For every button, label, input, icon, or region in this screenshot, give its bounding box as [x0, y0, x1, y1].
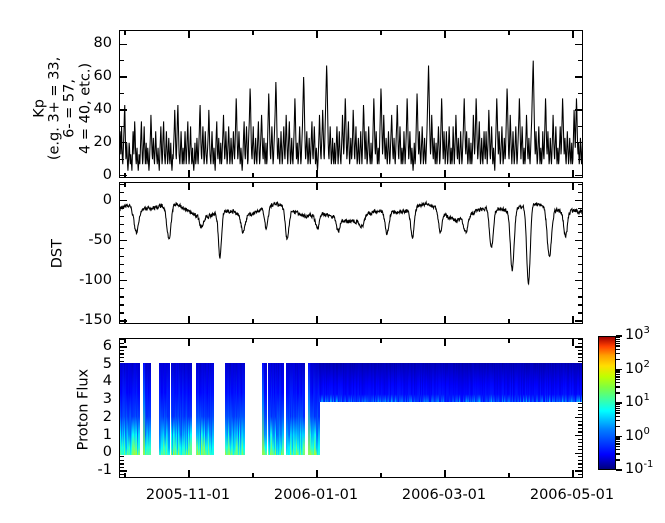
colorbar-minor-tick [616, 341, 620, 342]
colorbar-minor-tick [616, 412, 620, 413]
pf-y-minor-tick [120, 350, 124, 351]
panel-dst [119, 182, 583, 324]
colorbar-minor-tick [616, 337, 620, 338]
pf-y-minor-tick [578, 353, 582, 354]
dst-axis-title-line-1: DST [50, 224, 65, 284]
proton-flux-column [303, 363, 305, 454]
pf-x-minor-tick [252, 339, 253, 343]
kp-axis-title-line-3: 6- = 57, [63, 33, 78, 183]
kp-axis-title: Kp (e.g. 3+ = 33, 6- = 57, 4 = 40, etc.) [33, 33, 94, 183]
pf-y-minor-tick [578, 361, 582, 362]
pf-y-minor-tick [578, 357, 582, 358]
colorbar-minor-tick [616, 339, 620, 340]
panel-proton-flux [119, 338, 583, 478]
pf-x-minor-tick [508, 339, 509, 343]
dst-series [120, 183, 582, 323]
colorbar-minor-tick [616, 408, 620, 409]
colorbar-minor-tick [616, 372, 620, 373]
colorbar-tick-label: 100 [625, 427, 650, 443]
pf-y-major-tick [575, 435, 582, 436]
kp-axis-title-line-4: 4 = 40, etc.) [78, 33, 93, 183]
pf-y-minor-tick [120, 343, 124, 344]
colorbar-minor-tick [616, 359, 620, 360]
pf-y-minor-tick [120, 463, 124, 464]
pf-x-major-tick [188, 339, 189, 346]
colorbar-minor-tick [616, 449, 620, 450]
colorbar-minor-tick [616, 443, 620, 444]
pf-x-minor-tick [124, 473, 125, 477]
pf-y-minor-tick [578, 407, 582, 408]
x-axis-tick-label: 2006-03-01 [384, 488, 504, 503]
pf-y-major-tick [575, 453, 582, 454]
proton-flux-column [265, 363, 267, 454]
pf-y-minor-tick [120, 456, 124, 457]
pf-x-major-tick [444, 339, 445, 346]
colorbar-minor-tick [616, 404, 620, 405]
colorbar-tick-label: 103 [625, 326, 650, 342]
colorbar-minor-tick [616, 382, 620, 383]
pf-y-minor-tick [120, 361, 124, 362]
pf-y-minor-tick [578, 403, 582, 404]
colorbar-tick-label: 10-1 [625, 460, 653, 476]
proton-flux-streak [308, 363, 310, 454]
colorbar-minor-tick [616, 406, 620, 407]
dst-plot-area [120, 183, 582, 323]
proton-flux-streak [262, 363, 264, 454]
x-axis-tick-label: 2006-01-01 [256, 488, 376, 503]
pf-y-major-tick [575, 346, 582, 347]
pf-y-minor-tick [578, 442, 582, 443]
colorbar-minor-tick [616, 349, 620, 350]
colorbar-minor-tick [616, 345, 620, 346]
pf-y-major-tick [575, 417, 582, 418]
colorbar-minor-tick [616, 392, 620, 393]
proton-flux-column [282, 363, 284, 454]
kp-axis-title-line-2: (e.g. 3+ = 33, [48, 33, 63, 183]
proton-flux-streak [143, 363, 145, 454]
colorbar-minor-tick [616, 446, 620, 447]
colorbar-minor-tick [616, 353, 620, 354]
pf-y-minor-tick [120, 357, 124, 358]
colorbar-minor-tick [616, 343, 620, 344]
pf-x-major-tick [572, 339, 573, 346]
proton-flux-column [243, 363, 245, 454]
proton-flux-column [149, 363, 151, 454]
proton-flux-plot-area [120, 339, 582, 477]
colorbar-tick-label: 101 [625, 393, 650, 409]
colorbar-minor-tick [616, 420, 620, 421]
colorbar-minor-tick [616, 410, 620, 411]
pf-y-minor-tick [578, 350, 582, 351]
dst-y-tick-label: 0 [57, 193, 112, 208]
proton-flux-column [190, 363, 192, 454]
pf-y-major-tick [120, 346, 127, 347]
pf-y-minor-tick [578, 414, 582, 415]
pf-x-minor-tick [380, 339, 381, 343]
pf-y-major-tick [120, 470, 127, 471]
proton-flux-column [138, 363, 140, 454]
pf-x-major-tick [188, 470, 189, 477]
colorbar-minor-tick [616, 437, 620, 438]
colorbar-minor-tick [616, 370, 620, 371]
pf-y-minor-tick [578, 474, 582, 475]
pf-y-minor-tick [120, 339, 124, 340]
colorbar-minor-tick [616, 426, 620, 427]
kp-axis-title-line-1: Kp [33, 33, 48, 183]
pf-x-minor-tick [252, 473, 253, 477]
colorbar-minor-tick [616, 386, 620, 387]
pf-x-major-tick [444, 470, 445, 477]
pf-y-minor-tick [578, 428, 582, 429]
pf-y-tick-label: 6 [57, 339, 112, 354]
dst-axis-title: DST [50, 224, 65, 284]
colorbar-major-tick [616, 469, 622, 470]
pf-y-minor-tick [578, 446, 582, 447]
proton-flux-axis-title: Proton Flux [76, 355, 91, 465]
pf-y-minor-tick [578, 339, 582, 340]
pf-y-minor-tick [578, 463, 582, 464]
pf-y-minor-tick [578, 424, 582, 425]
pf-x-major-tick [316, 470, 317, 477]
pf-y-minor-tick [120, 460, 124, 461]
pf-y-tick-label: -1 [57, 463, 112, 478]
pf-x-major-tick [572, 470, 573, 477]
colorbar-minor-tick [616, 379, 620, 380]
pf-y-minor-tick [578, 431, 582, 432]
pf-y-minor-tick [120, 353, 124, 354]
pf-x-minor-tick [508, 473, 509, 477]
kp-series [120, 31, 582, 177]
kp-plot-area [120, 31, 582, 177]
proton-flux-column [212, 363, 214, 454]
colorbar-minor-tick [616, 416, 620, 417]
pf-y-minor-tick [578, 456, 582, 457]
colorbar-gradient [598, 336, 616, 470]
colorbar-minor-tick [616, 376, 620, 377]
dst-y-tick-label: -150 [57, 313, 112, 328]
pf-y-minor-tick [578, 449, 582, 450]
colorbar-minor-tick [616, 453, 620, 454]
pf-x-major-tick [316, 339, 317, 346]
pf-y-major-tick [575, 470, 582, 471]
proton-flux-axis-title-line-1: Proton Flux [76, 355, 91, 465]
x-axis-tick-label: 2006-05-01 [512, 488, 632, 503]
colorbar-minor-tick [616, 374, 620, 375]
colorbar-tick-label: 102 [625, 360, 650, 376]
x-axis-tick-label: 2005-11-01 [128, 488, 248, 503]
pf-y-minor-tick [578, 460, 582, 461]
figure-canvas: 020406080 Kp (e.g. 3+ = 33, 6- = 57, 4 =… [0, 0, 665, 523]
colorbar-minor-tick [616, 459, 620, 460]
pf-x-minor-tick [124, 339, 125, 343]
pf-x-minor-tick [380, 473, 381, 477]
pf-y-minor-tick [578, 439, 582, 440]
pf-y-minor-tick [120, 474, 124, 475]
colorbar-minor-tick [616, 439, 620, 440]
panel-kp [119, 30, 583, 178]
pf-y-minor-tick [578, 410, 582, 411]
pf-y-minor-tick [578, 343, 582, 344]
pf-y-minor-tick [578, 467, 582, 468]
colorbar-minor-tick [616, 441, 620, 442]
pf-y-minor-tick [120, 467, 124, 468]
proton-flux-column [168, 363, 170, 454]
pf-y-minor-tick [578, 421, 582, 422]
